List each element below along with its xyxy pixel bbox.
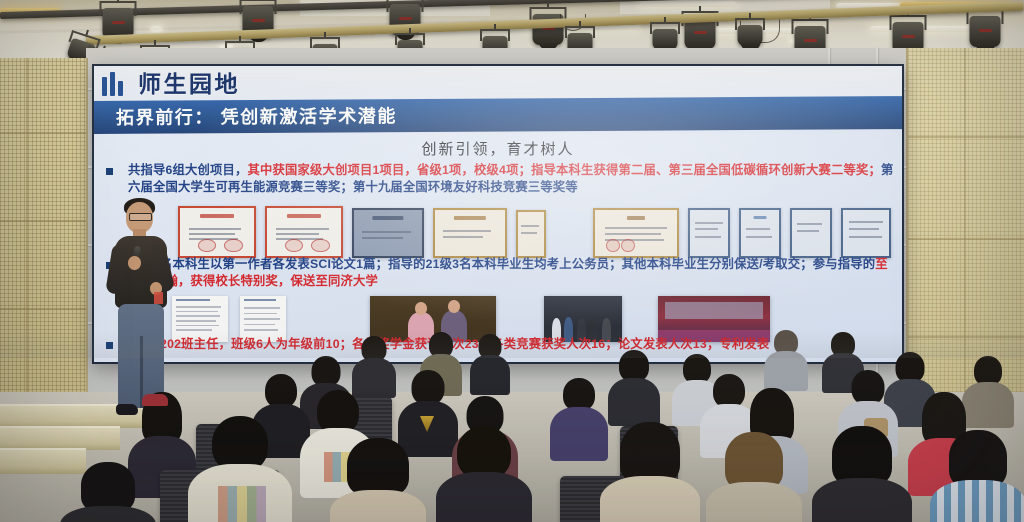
certificate-image bbox=[516, 210, 546, 258]
bullet-marker bbox=[106, 168, 113, 175]
certificate-image bbox=[593, 208, 679, 258]
presenter-badge bbox=[154, 292, 163, 304]
audience-member bbox=[706, 432, 802, 522]
auditorium-scene: 师生园地 拓界前行： 凭创新激活学术潜能 创新引领，育才树人 共指导6组大创项目… bbox=[0, 0, 1024, 522]
certificate-image bbox=[352, 208, 424, 258]
audience-member bbox=[60, 462, 156, 522]
certificate-image bbox=[433, 208, 507, 258]
certificate-image bbox=[790, 208, 832, 258]
certificates-row bbox=[178, 206, 891, 258]
audience bbox=[0, 330, 1024, 522]
bullet-2-text: 指导3名本科生以第一作者各发表SCI论文1篇；指导的21级3名本科毕业生均考上公… bbox=[128, 256, 894, 290]
audience-member bbox=[600, 422, 700, 522]
audience-member bbox=[930, 430, 1024, 522]
slide-header-title: 师生园地 bbox=[138, 69, 240, 99]
audience-member bbox=[812, 426, 912, 522]
projection-screen: 师生园地 拓界前行： 凭创新激活学术潜能 创新引领，育才树人 共指导6组大创项目… bbox=[92, 64, 904, 364]
slide-content: 师生园地 拓界前行： 凭创新激活学术潜能 创新引领，育才树人 共指导6组大创项目… bbox=[94, 66, 902, 362]
slide-banner-title: 拓界前行： 凭创新激活学术潜能 bbox=[116, 102, 397, 130]
slide-subtitle: 创新引领，育才树人 bbox=[94, 138, 902, 159]
glasses-icon bbox=[129, 213, 152, 221]
bullet-1-text: 共指导6组大创项目，其中获国家级大创项目1项目，省级1项，校级4项；指导本科生获… bbox=[128, 162, 894, 196]
slide-banner: 拓界前行： 凭创新激活学术潜能 bbox=[94, 96, 902, 134]
audience-member bbox=[188, 416, 292, 522]
certificate-image bbox=[739, 208, 781, 258]
certificate-image bbox=[265, 206, 343, 258]
audience-member bbox=[608, 350, 660, 420]
audience-member bbox=[764, 330, 808, 388]
audience-member bbox=[470, 334, 510, 392]
audience-member bbox=[436, 426, 532, 522]
audience-member bbox=[330, 438, 426, 522]
audience-member bbox=[352, 336, 396, 394]
institution-logo-icon bbox=[102, 72, 128, 96]
certificate-image bbox=[841, 208, 891, 258]
certificate-image bbox=[178, 206, 256, 258]
certificate-image bbox=[688, 208, 730, 258]
